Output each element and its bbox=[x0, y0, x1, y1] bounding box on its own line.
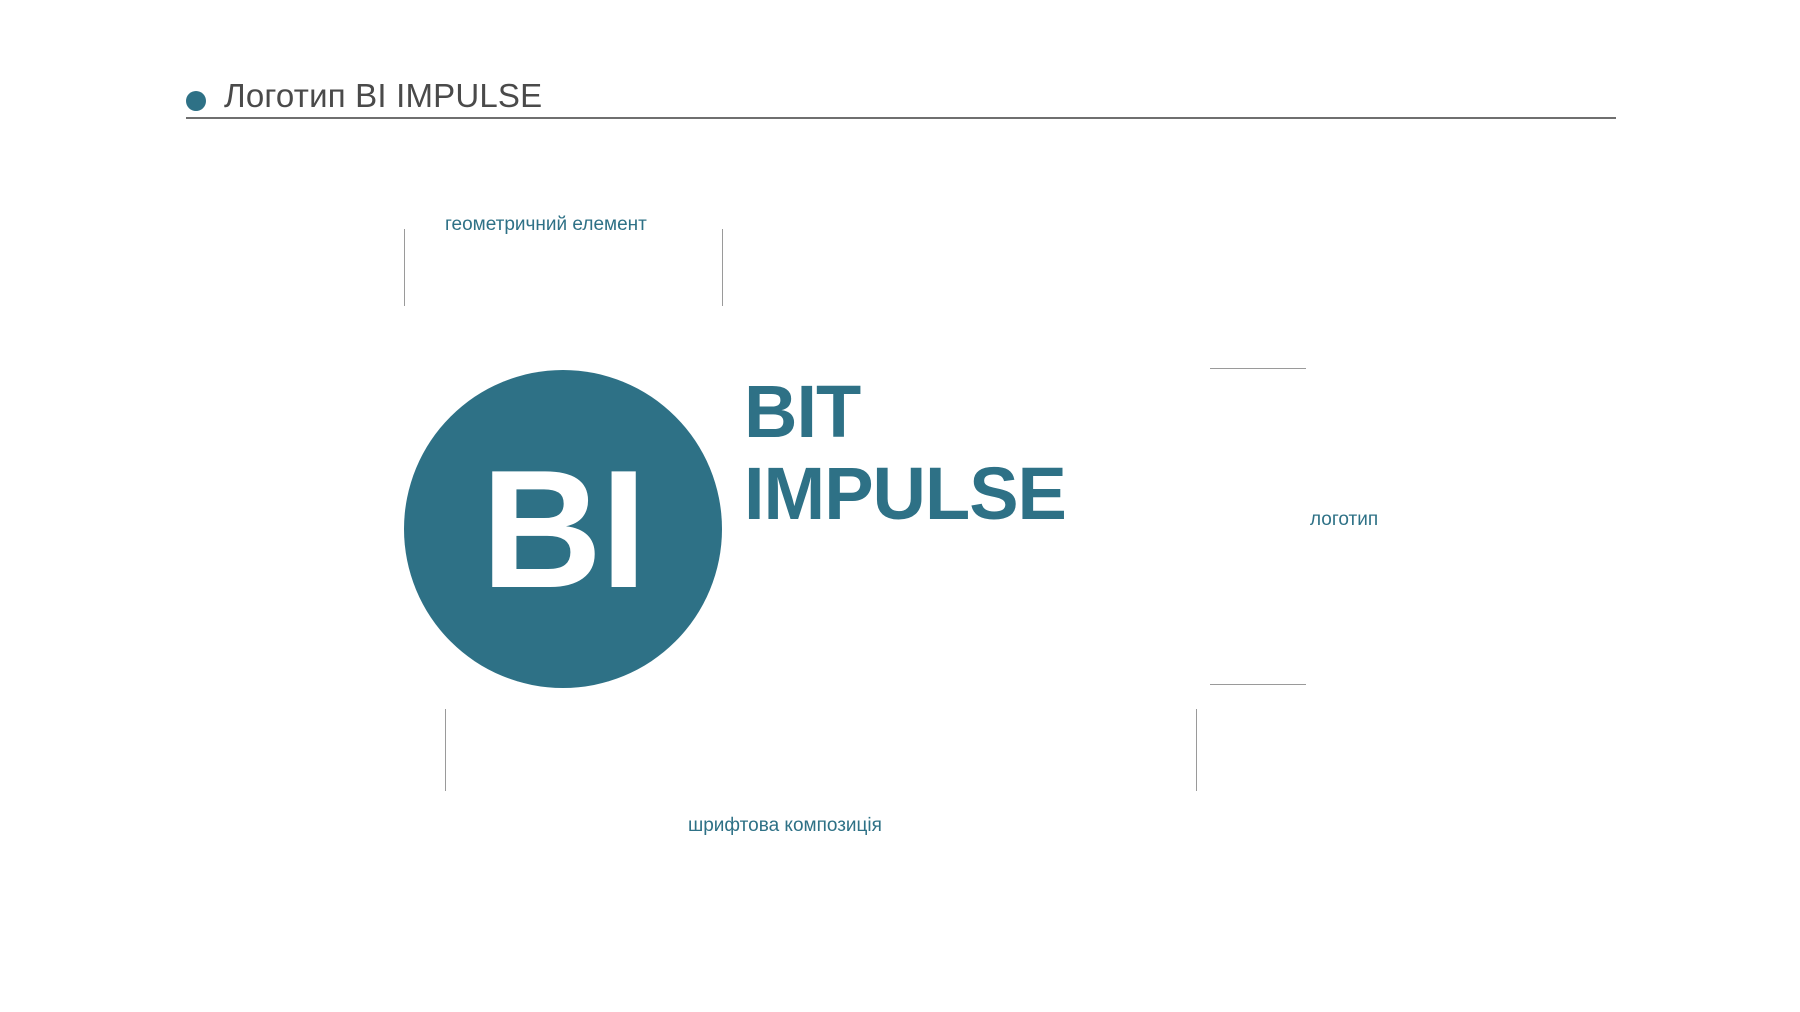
annotation-label-geometric-element: геометричний елемент bbox=[445, 213, 647, 237]
annotation-label-logotype: логотип bbox=[1310, 508, 1378, 532]
logo-wordmark: BIT IMPULSE bbox=[744, 371, 1066, 535]
guide-line-right-top bbox=[1210, 368, 1306, 369]
guide-line-bottom-left bbox=[445, 709, 446, 791]
header-divider bbox=[186, 117, 1616, 119]
guide-line-top-left bbox=[404, 229, 405, 306]
page-title: Логотип BI IMPULSE bbox=[224, 76, 542, 116]
logo-monogram-text: BI bbox=[404, 370, 722, 688]
logo-wordmark-line-1: BIT bbox=[744, 371, 1066, 453]
bullet-dot-icon bbox=[186, 91, 206, 111]
slide-canvas: Логотип BI IMPULSE геометричний елемент … bbox=[0, 0, 1800, 1012]
logo-wordmark-line-2: IMPULSE bbox=[744, 453, 1066, 535]
guide-line-top-right bbox=[722, 229, 723, 306]
guide-line-right-bottom bbox=[1210, 684, 1306, 685]
guide-line-bottom-right bbox=[1196, 709, 1197, 791]
annotation-label-typographic-composition: шрифтова композиція bbox=[688, 814, 882, 838]
